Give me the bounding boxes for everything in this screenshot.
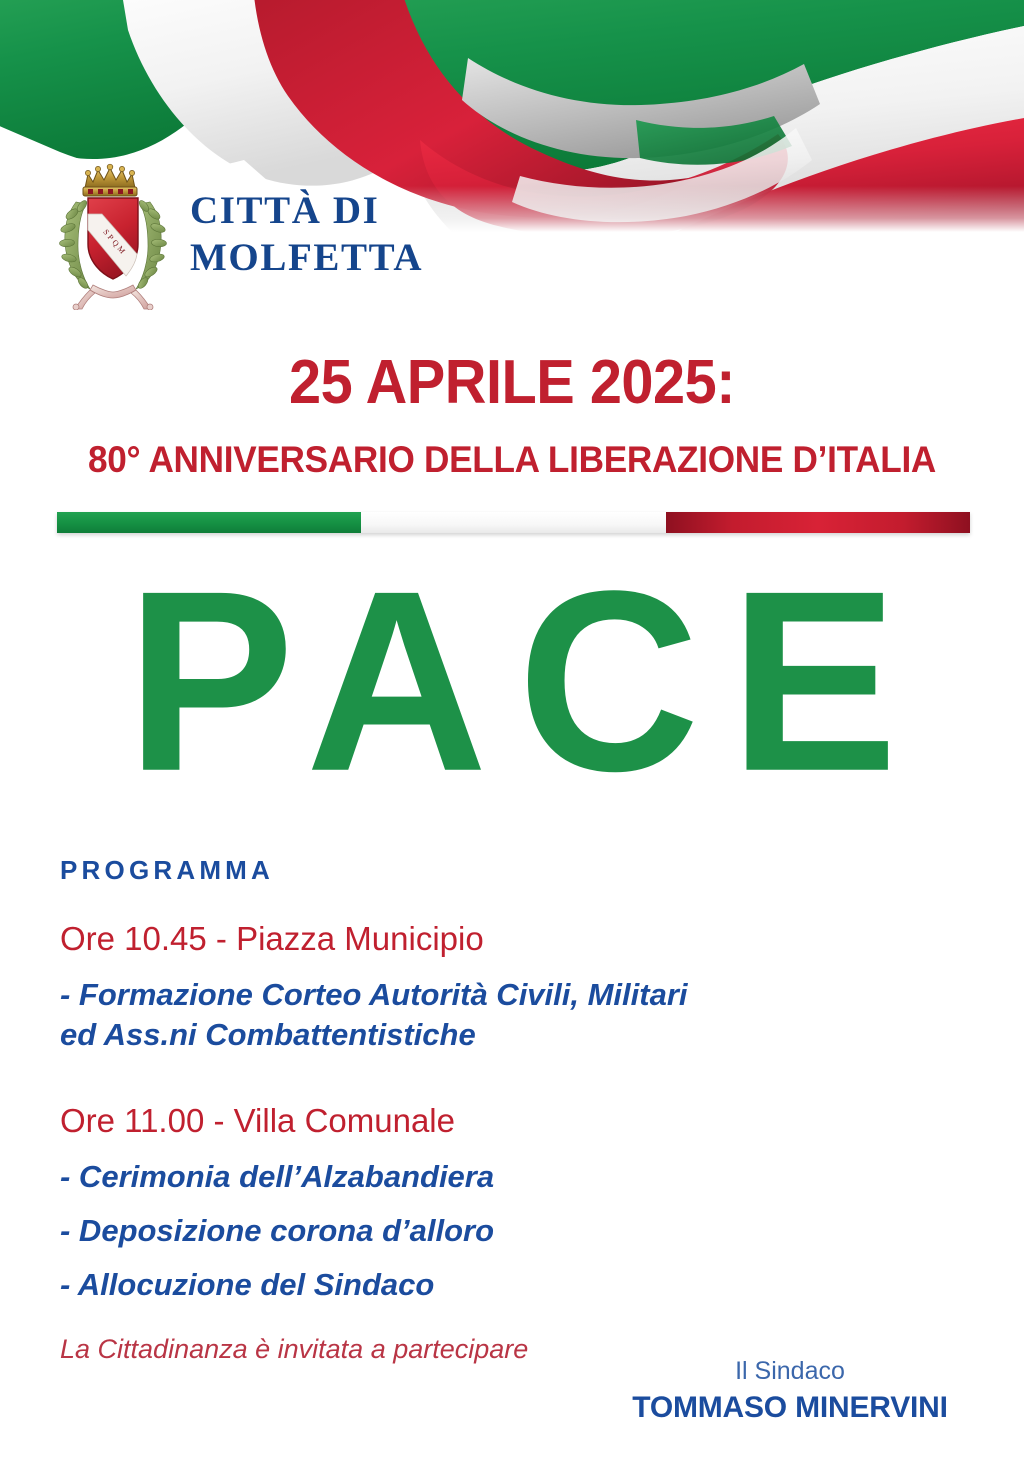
program-section: PROGRAMMA Ore 10.45 - Piazza Municipio -… [60,855,960,1365]
program-block-2-item-3: - Allocuzione del Sindaco [60,1265,960,1305]
ribbon-icon [73,285,153,310]
program-heading: PROGRAMMA [60,855,960,886]
poster-title: 25 APRILE 2025: [36,352,988,414]
city-name-line1: CITTÀ DI [190,187,423,234]
tricolor-white-segment [361,512,665,533]
program-spacer [60,1068,960,1102]
city-name-line2: MOLFETTA [190,234,423,281]
tricolor-green-segment [57,512,361,533]
poster-subtitle: 80° ANNIVERSARIO DELLA LIBERAZIONE D’ITA… [26,441,999,478]
program-block-2-item-2: - Deposizione corona d’alloro [60,1211,960,1251]
program-block-1: Ore 10.45 - Piazza Municipio - Formazion… [60,920,960,1054]
crown-icon [83,164,137,196]
program-block-1-time-location: Ore 10.45 - Piazza Municipio [60,920,960,959]
city-logo: SPQM CITTÀ DI MOLFETTA [52,158,423,310]
program-block-2: Ore 11.00 - Villa Comunale - Cerimonia d… [60,1102,960,1304]
signature-block: Il Sindaco TOMMASO MINERVINI [610,1356,970,1426]
program-block-2-time-location: Ore 11.00 - Villa Comunale [60,1102,960,1141]
poster-page: SPQM CITTÀ DI MOLFETTA 25 APRILE 2025: 8… [0,0,1024,1464]
program-block-1-item-1: - Formazione Corteo Autorità Civili, Mil… [60,975,960,1054]
molfetta-coat-of-arms-icon: SPQM [52,158,174,310]
city-name: CITTÀ DI MOLFETTA [190,187,423,281]
program-block-2-item-1: - Cerimonia dell’Alzabandiera [60,1157,960,1197]
shield-icon: SPQM [88,198,138,279]
hero-word-pace: PACE [0,553,1024,810]
tricolor-divider [57,512,970,533]
signature-name: TOMMASO MINERVINI [610,1390,970,1426]
signature-role: Il Sindaco [610,1356,970,1386]
tricolor-red-segment [666,512,970,533]
